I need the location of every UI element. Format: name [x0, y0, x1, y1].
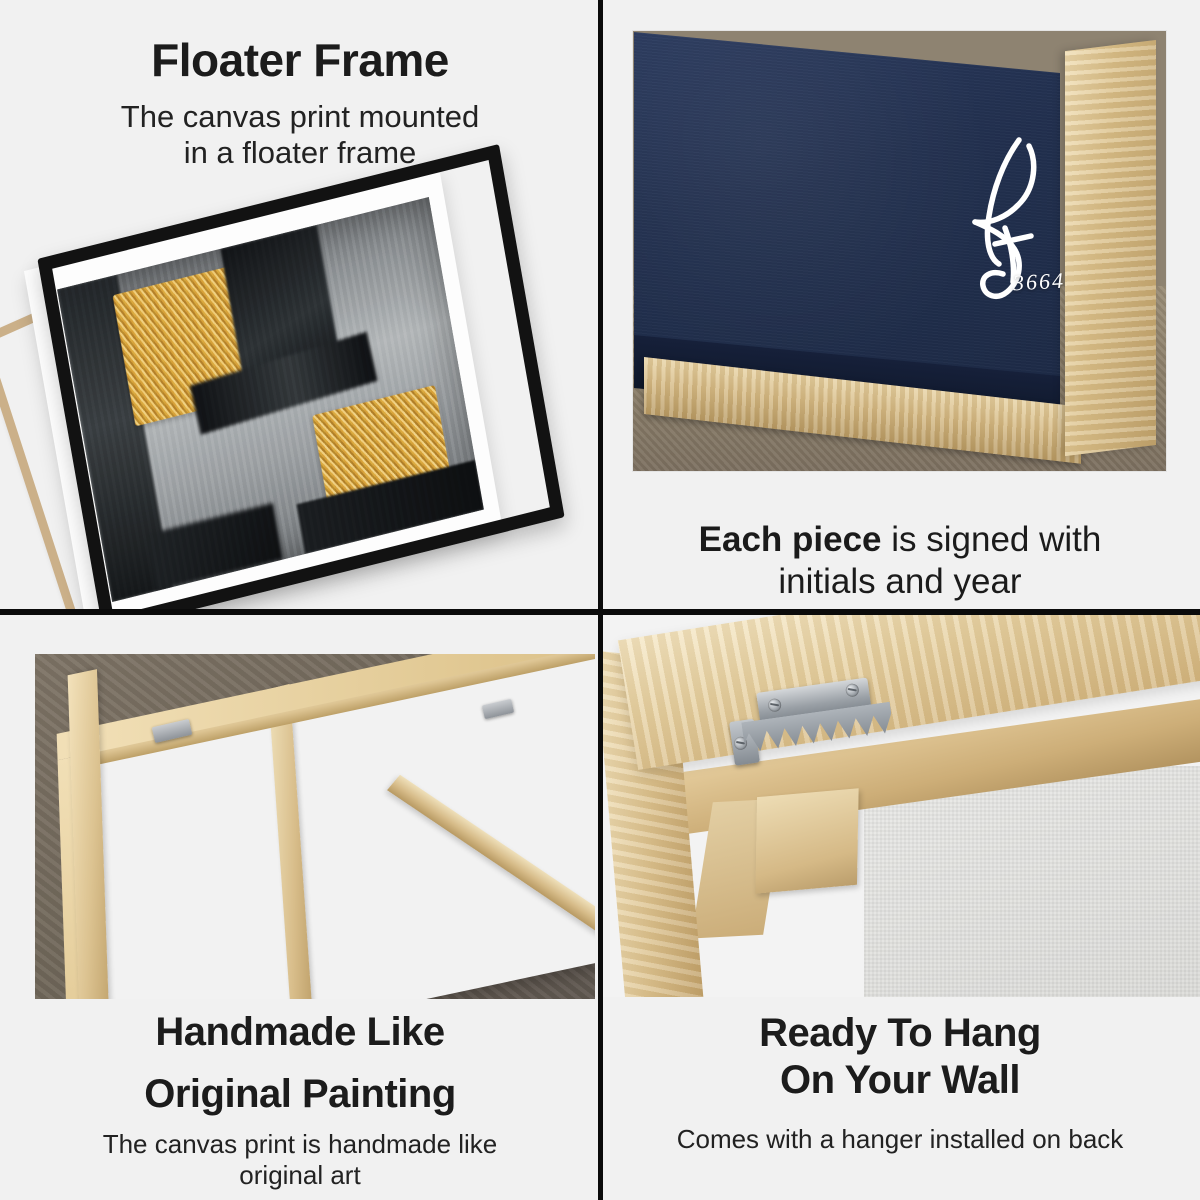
black-floater-frame-layer: [37, 144, 564, 612]
stretcher-bar-photo: [35, 654, 595, 999]
horizontal-divider: [0, 609, 1200, 615]
handmade-heading-line2: Original Painting: [0, 1073, 600, 1115]
floater-frame-description-line1: The canvas print mounted: [0, 99, 600, 136]
signed-piece-caption-rest: is signed with: [882, 520, 1102, 559]
wood-wedge-primary: [755, 788, 858, 894]
handmade-description-line1: The canvas print is handmade like: [103, 1129, 498, 1159]
screw-icon: [767, 698, 782, 713]
hanger-hardware-photo: [600, 612, 1200, 997]
floater-frame-description-line2: in a floater frame: [0, 135, 600, 172]
signed-piece-caption-line2: initials and year: [778, 562, 1021, 601]
ready-to-hang-description: Comes with a hanger installed on back: [606, 1124, 1194, 1155]
wood-frame-right-rail: [1065, 40, 1156, 456]
signed-piece-caption-bold: Each piece: [699, 520, 882, 559]
handmade-heading-line1: Handmade Like: [0, 1011, 600, 1053]
panel-floater-frame: Floater Frame The canvas print mounted i…: [0, 0, 600, 612]
floater-frame-title: Floater Frame: [0, 36, 600, 85]
panel-ready-to-hang: Ready To Hang On Your Wall Comes with a …: [600, 612, 1200, 1200]
signed-piece-caption: Each piece is signed with initials and y…: [608, 519, 1192, 603]
ready-to-hang-heading-line1: Ready To Hang: [600, 1012, 1200, 1054]
panel-handmade: Handmade Like Original Painting The canv…: [0, 612, 600, 1200]
handmade-description: The canvas print is handmade like origin…: [18, 1129, 582, 1190]
handmade-description-line2: original art: [239, 1160, 360, 1190]
screw-icon: [845, 683, 860, 698]
vertical-divider: [598, 0, 603, 1200]
feature-collage: Floater Frame The canvas print mounted i…: [0, 0, 1200, 1200]
signature-year: 3664: [1012, 267, 1065, 296]
exploded-frame-illustration: [0, 190, 600, 612]
signed-canvas-photo: 3664: [633, 31, 1166, 471]
panel-signed-piece: 3664 Each piece is signed with initials …: [600, 0, 1200, 612]
ready-to-hang-heading-line2: On Your Wall: [600, 1059, 1200, 1101]
